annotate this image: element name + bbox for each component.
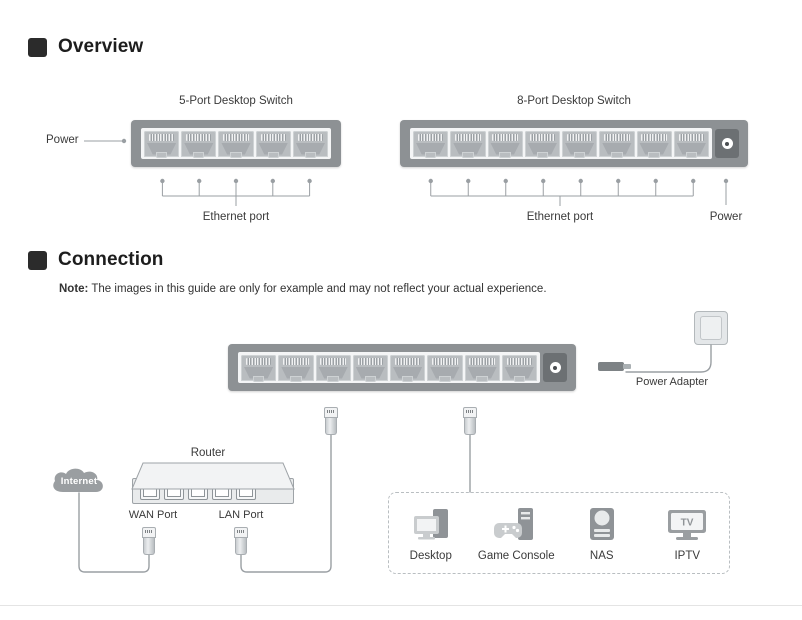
section-bullet-icon bbox=[28, 38, 47, 57]
router-lan-port bbox=[236, 481, 256, 500]
bracket-dot bbox=[307, 179, 311, 183]
switch-5-port bbox=[131, 120, 341, 167]
power-jack-ring bbox=[722, 138, 733, 149]
device-item: TV IPTV bbox=[639, 500, 735, 562]
switch8-ethernet-port-label: Ethernet port bbox=[460, 211, 660, 223]
plug-boot bbox=[464, 418, 476, 435]
ethernet-port bbox=[413, 131, 448, 157]
device-item: NAS bbox=[554, 500, 650, 562]
bracket-dot bbox=[234, 179, 238, 183]
ethernet-port bbox=[525, 131, 560, 157]
plug-head bbox=[234, 527, 248, 538]
bracket-dot bbox=[654, 179, 658, 183]
power-jack-pin bbox=[725, 142, 729, 146]
ethernet-port bbox=[465, 355, 500, 381]
device-label: IPTV bbox=[639, 550, 735, 562]
port-glyph-icon bbox=[215, 484, 229, 497]
plug-head bbox=[142, 527, 156, 538]
ethernet-port bbox=[637, 131, 672, 157]
note-label: Note: bbox=[59, 283, 88, 295]
plug-boot bbox=[325, 418, 337, 435]
svg-text:TV: TV bbox=[681, 518, 694, 529]
bracket-dot bbox=[616, 179, 620, 183]
ethernet-port-throat bbox=[258, 143, 288, 155]
dc-barrel-plug-icon bbox=[598, 362, 624, 371]
ethernet-port bbox=[278, 355, 313, 381]
bracket-dot bbox=[271, 179, 275, 183]
ethernet-port bbox=[427, 355, 462, 381]
rj45-plug-router-lan bbox=[234, 527, 248, 555]
router-lan-port bbox=[164, 481, 184, 500]
note-text: Note: The images in this guide are only … bbox=[59, 283, 547, 295]
ethernet-port-throat bbox=[453, 143, 483, 155]
bracket-dot bbox=[429, 179, 433, 183]
bracket-dot bbox=[197, 179, 201, 183]
router-lan-port-label: LAN Port bbox=[199, 509, 283, 521]
ethernet-port-throat bbox=[296, 143, 326, 155]
power-adapter-label: Power Adapter bbox=[624, 376, 720, 388]
ethernet-port bbox=[488, 131, 523, 157]
ethernet-port-throat bbox=[184, 143, 214, 155]
switch-8-port-face bbox=[410, 128, 712, 159]
bracket-dot bbox=[504, 179, 508, 183]
bracket-dot bbox=[466, 179, 470, 183]
rj45-plug-router-wan bbox=[142, 527, 156, 555]
device-label: Desktop bbox=[383, 550, 479, 562]
guide-page: Overview 5-Port Desktop Switch Power Eth… bbox=[0, 0, 802, 620]
ethernet-port bbox=[390, 355, 425, 381]
power-jack-icon bbox=[543, 353, 567, 382]
router-wan-port-label: WAN Port bbox=[111, 509, 195, 521]
section-header-overview: Overview bbox=[28, 36, 143, 58]
ethernet-port-throat bbox=[505, 367, 535, 379]
ethernet-port-throat bbox=[416, 143, 446, 155]
connection-switch-face bbox=[238, 352, 540, 383]
bracket-dot bbox=[579, 179, 583, 183]
bracket-dot bbox=[691, 179, 695, 183]
power-jack-icon bbox=[715, 129, 739, 158]
nas-icon bbox=[554, 500, 650, 544]
ethernet-port bbox=[562, 131, 597, 157]
section-title: Connection bbox=[58, 249, 164, 271]
ethernet-port-throat bbox=[430, 367, 460, 379]
switch5-ethernet-port-label: Ethernet port bbox=[136, 211, 336, 223]
ethernet-port bbox=[502, 355, 537, 381]
device-item: Game Console bbox=[468, 500, 564, 562]
ethernet-port-throat bbox=[356, 367, 386, 379]
game-console-icon bbox=[468, 500, 564, 544]
ethernet-port bbox=[181, 131, 216, 157]
port-glyph-icon bbox=[143, 484, 157, 497]
device-item: Desktop bbox=[383, 500, 479, 562]
section-title: Overview bbox=[58, 36, 143, 58]
bracket-dot bbox=[541, 179, 545, 183]
power-jack-ring bbox=[550, 362, 561, 373]
plug-head bbox=[463, 407, 477, 418]
port-glyph-icon bbox=[191, 484, 205, 497]
ethernet-port-throat bbox=[565, 143, 595, 155]
switch8-power-label: Power bbox=[678, 211, 774, 223]
ethernet-port bbox=[293, 131, 328, 157]
ethernet-port bbox=[256, 131, 291, 157]
ethernet-port-throat bbox=[244, 367, 274, 379]
bracket-dot bbox=[160, 179, 164, 183]
ethernet-port bbox=[353, 355, 388, 381]
ethernet-port-throat bbox=[467, 367, 497, 379]
rj45-plug-switch-port6 bbox=[463, 407, 477, 435]
ethernet-port bbox=[316, 355, 351, 381]
ethernet-port bbox=[241, 355, 276, 381]
ethernet-port bbox=[599, 131, 634, 157]
ethernet-port bbox=[218, 131, 253, 157]
switch-5-port-face bbox=[141, 128, 331, 159]
footer-divider bbox=[0, 605, 802, 606]
ethernet-port-throat bbox=[602, 143, 632, 155]
ethernet-port-throat bbox=[490, 143, 520, 155]
router-lan-port bbox=[188, 481, 208, 500]
ethernet-port-throat bbox=[147, 143, 177, 155]
switch-8-port bbox=[400, 120, 748, 167]
port-glyph-icon bbox=[239, 484, 253, 497]
ethernet-port bbox=[450, 131, 485, 157]
ethernet-port-throat bbox=[281, 367, 311, 379]
iptv-icon: TV bbox=[639, 500, 735, 544]
rj45-plug-switch-port3 bbox=[324, 407, 338, 435]
power-adapter-face bbox=[700, 316, 722, 340]
internet-cloud-icon: Internet bbox=[50, 467, 108, 495]
note-body: The images in this guide are only for ex… bbox=[88, 283, 546, 295]
connection-switch bbox=[228, 344, 576, 391]
section-bullet-icon bbox=[28, 251, 47, 270]
power-adapter-icon bbox=[694, 311, 728, 345]
switch5-caption: 5-Port Desktop Switch bbox=[131, 95, 341, 107]
ethernet-port bbox=[144, 131, 179, 157]
section-header-connection: Connection bbox=[28, 249, 164, 271]
desktop-icon bbox=[383, 500, 479, 544]
overview-power-label-left: Power bbox=[46, 134, 79, 146]
router-wan-port bbox=[140, 481, 160, 500]
ethernet-port-throat bbox=[677, 143, 707, 155]
ethernet-port-throat bbox=[639, 143, 669, 155]
router-lan-port bbox=[212, 481, 232, 500]
plug-head bbox=[324, 407, 338, 418]
ethernet-port bbox=[674, 131, 709, 157]
plug-boot bbox=[143, 538, 155, 555]
power-jack-pin bbox=[553, 366, 557, 370]
plug-boot bbox=[235, 538, 247, 555]
device-label: Game Console bbox=[468, 550, 564, 562]
port-glyph-icon bbox=[167, 484, 181, 497]
router-ports bbox=[140, 481, 256, 500]
switch8-caption: 8-Port Desktop Switch bbox=[400, 95, 748, 107]
ethernet-port-throat bbox=[528, 143, 558, 155]
ethernet-port-throat bbox=[221, 143, 251, 155]
ethernet-port-throat bbox=[318, 367, 348, 379]
router-title: Router bbox=[160, 447, 256, 459]
device-label: NAS bbox=[554, 550, 650, 562]
internet-label: Internet bbox=[50, 467, 108, 495]
ethernet-port-throat bbox=[393, 367, 423, 379]
